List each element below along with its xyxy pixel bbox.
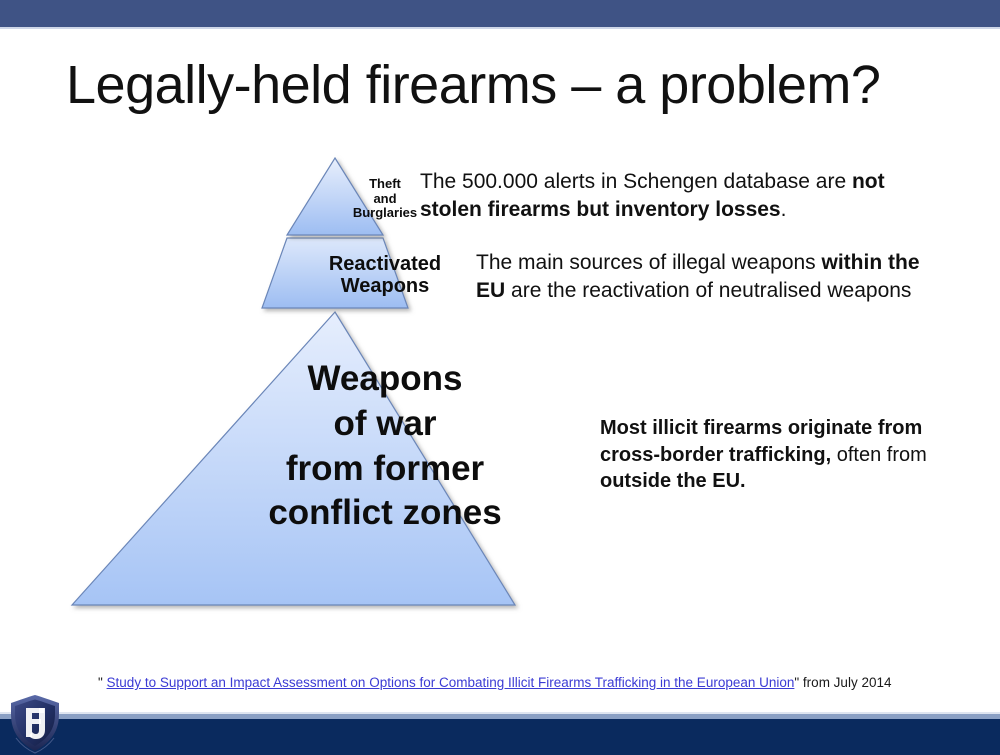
footnote-prefix: " [98,675,107,690]
top-accent-band-edge [0,27,1000,29]
slide-canvas: Legally-held firearms – a problem? [0,0,1000,755]
callout-main-sources-within-eu: The main sources of illegal weapons with… [476,249,936,305]
footnote-suffix: " from July 2014 [794,675,891,690]
footnote-citation: " Study to Support an Impact Assessment … [98,675,958,690]
text-run-0: The main sources of illegal weapons [476,251,822,274]
footnote-source-link[interactable]: Study to Support an Impact Assessment on… [107,675,795,690]
bottom-accent-band [0,719,1000,755]
shield-monogram-logo[interactable] [6,694,64,755]
text-run-1: often from [831,444,927,466]
text-run-2: . [781,198,787,221]
pyramid-tier-theft-and-burglaries[interactable] [287,158,383,235]
text-run-0: The 500.000 alerts in Schengen database … [420,170,852,193]
shield-icon [6,694,64,755]
callout-schengen-alerts: The 500.000 alerts in Schengen database … [420,168,920,224]
callout-cross-border-trafficking: Most illicit firearms originate from cro… [600,415,960,495]
top-accent-band [0,0,1000,27]
page-title: Legally-held firearms – a problem? [66,54,966,116]
text-run-2: outside the EU. [600,470,746,492]
text-run-2: are the reactivation of neutralised weap… [505,279,911,302]
pyramid-tier-weapons-of-war[interactable] [72,312,515,605]
pyramid-tier-reactivated-weapons-shape[interactable] [262,238,408,308]
